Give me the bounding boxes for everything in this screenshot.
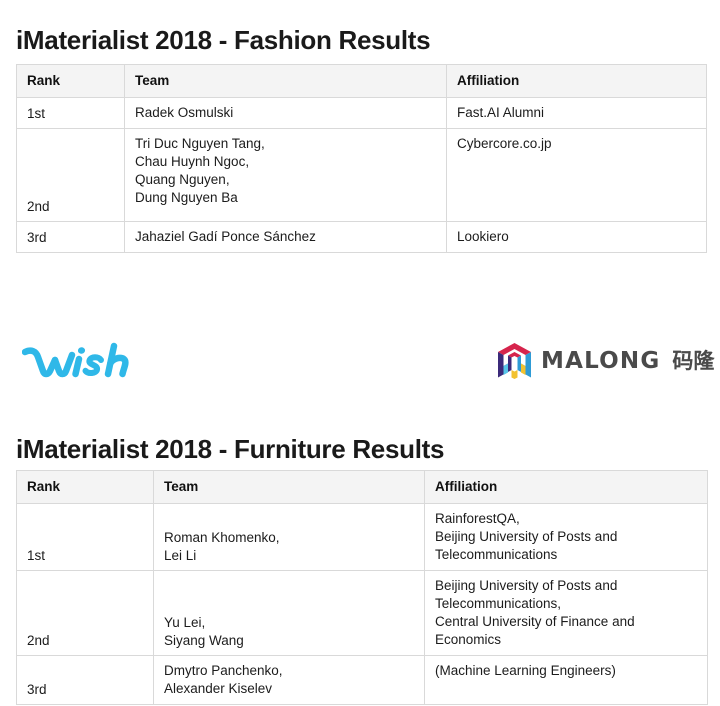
cell-team: Tri Duc Nguyen Tang, Chau Huynh Ngoc, Qu… xyxy=(125,129,447,222)
affiliation-line: (Machine Learning Engineers) xyxy=(435,662,698,680)
table-header-row: Rank Team Affiliation xyxy=(17,65,707,98)
team-line: Chau Huynh Ngoc, xyxy=(135,153,437,171)
cell-affiliation: Lookiero xyxy=(447,222,707,253)
column-header-rank: Rank xyxy=(17,471,154,504)
malong-wordmark: MALONG xyxy=(541,350,660,373)
column-header-affiliation: Affiliation xyxy=(425,471,708,504)
cell-team: Jahaziel Gadí Ponce Sánchez xyxy=(125,222,447,253)
team-line: Tri Duc Nguyen Tang, xyxy=(135,135,437,153)
cell-affiliation: (Machine Learning Engineers) xyxy=(425,656,708,705)
wish-logo xyxy=(22,338,138,386)
team-line: Yu Lei, xyxy=(164,614,415,632)
sponsor-logo-band: MALONG 码隆 xyxy=(0,330,720,404)
cell-affiliation: Cybercore.co.jp xyxy=(447,129,707,222)
cell-team: Roman Khomenko, Lei Li xyxy=(154,504,425,571)
affiliation-line: Telecommunications, xyxy=(435,595,698,613)
cell-affiliation: RainforestQA, Beijing University of Post… xyxy=(425,504,708,571)
cell-rank: 3rd xyxy=(17,656,154,705)
affiliation-line: RainforestQA, xyxy=(435,510,698,528)
team-line: Siyang Wang xyxy=(164,632,415,650)
column-header-rank: Rank xyxy=(17,65,125,98)
affiliation-line: Fast.AI Alumni xyxy=(457,104,697,122)
column-header-team: Team xyxy=(154,471,425,504)
column-header-team: Team xyxy=(125,65,447,98)
team-line: Radek Osmulski xyxy=(135,104,437,122)
team-line: Alexander Kiselev xyxy=(164,680,415,698)
table-body: 1st Radek Osmulski Fast.AI Alumni 2nd Tr… xyxy=(17,98,707,253)
team-line: Dmytro Panchenko, xyxy=(164,662,415,680)
page-title-fashion: iMaterialist 2018 - Fashion Results xyxy=(16,25,430,55)
table-row: 2nd Tri Duc Nguyen Tang, Chau Huynh Ngoc… xyxy=(17,129,707,222)
table-row: 1st Roman Khomenko, Lei Li RainforestQA,… xyxy=(17,504,708,571)
cell-rank: 2nd xyxy=(17,571,154,656)
cell-affiliation: Fast.AI Alumni xyxy=(447,98,707,129)
table-header: Rank Team Affiliation xyxy=(17,471,708,504)
table-row: 3rd Jahaziel Gadí Ponce Sánchez Lookiero xyxy=(17,222,707,253)
team-line: Quang Nguyen, xyxy=(135,171,437,189)
affiliation-line: Telecommunications xyxy=(435,546,698,564)
furniture-results-table: Rank Team Affiliation 1st Roman Khomenko… xyxy=(16,470,708,705)
team-line: Jahaziel Gadí Ponce Sánchez xyxy=(135,228,437,246)
table-row: 3rd Dmytro Panchenko, Alexander Kiselev … xyxy=(17,656,708,705)
table-header: Rank Team Affiliation xyxy=(17,65,707,98)
team-line: Lei Li xyxy=(164,547,415,565)
fashion-results-table: Rank Team Affiliation 1st Radek Osmulski… xyxy=(16,64,707,253)
cell-team: Dmytro Panchenko, Alexander Kiselev xyxy=(154,656,425,705)
affiliation-line: Economics xyxy=(435,631,698,649)
affiliation-line: Beijing University of Posts and xyxy=(435,577,698,595)
malong-wordmark-cn: 码隆 xyxy=(672,351,714,372)
cell-rank: 2nd xyxy=(17,129,125,222)
affiliation-line: Beijing University of Posts and xyxy=(435,528,698,546)
table-header-row: Rank Team Affiliation xyxy=(17,471,708,504)
table-body: 1st Roman Khomenko, Lei Li RainforestQA,… xyxy=(17,504,708,705)
team-line: Dung Nguyen Ba xyxy=(135,189,437,207)
table-row: 1st Radek Osmulski Fast.AI Alumni xyxy=(17,98,707,129)
cell-team: Radek Osmulski xyxy=(125,98,447,129)
results-page: iMaterialist 2018 - Fashion Results Rank… xyxy=(0,0,720,706)
affiliation-line: Central University of Finance and xyxy=(435,613,698,631)
cell-rank: 1st xyxy=(17,98,125,129)
affiliation-line: Cybercore.co.jp xyxy=(457,135,697,153)
column-header-affiliation: Affiliation xyxy=(447,65,707,98)
malong-logo: MALONG 码隆 xyxy=(497,342,714,380)
cell-rank: 1st xyxy=(17,504,154,571)
affiliation-line: Lookiero xyxy=(457,228,697,246)
cell-affiliation: Beijing University of Posts and Telecomm… xyxy=(425,571,708,656)
malong-cube-icon xyxy=(497,342,532,380)
cell-rank: 3rd xyxy=(17,222,125,253)
cell-team: Yu Lei, Siyang Wang xyxy=(154,571,425,656)
team-line: Roman Khomenko, xyxy=(164,529,415,547)
page-title-furniture: iMaterialist 2018 - Furniture Results xyxy=(16,434,444,464)
table-row: 2nd Yu Lei, Siyang Wang Beijing Universi… xyxy=(17,571,708,656)
